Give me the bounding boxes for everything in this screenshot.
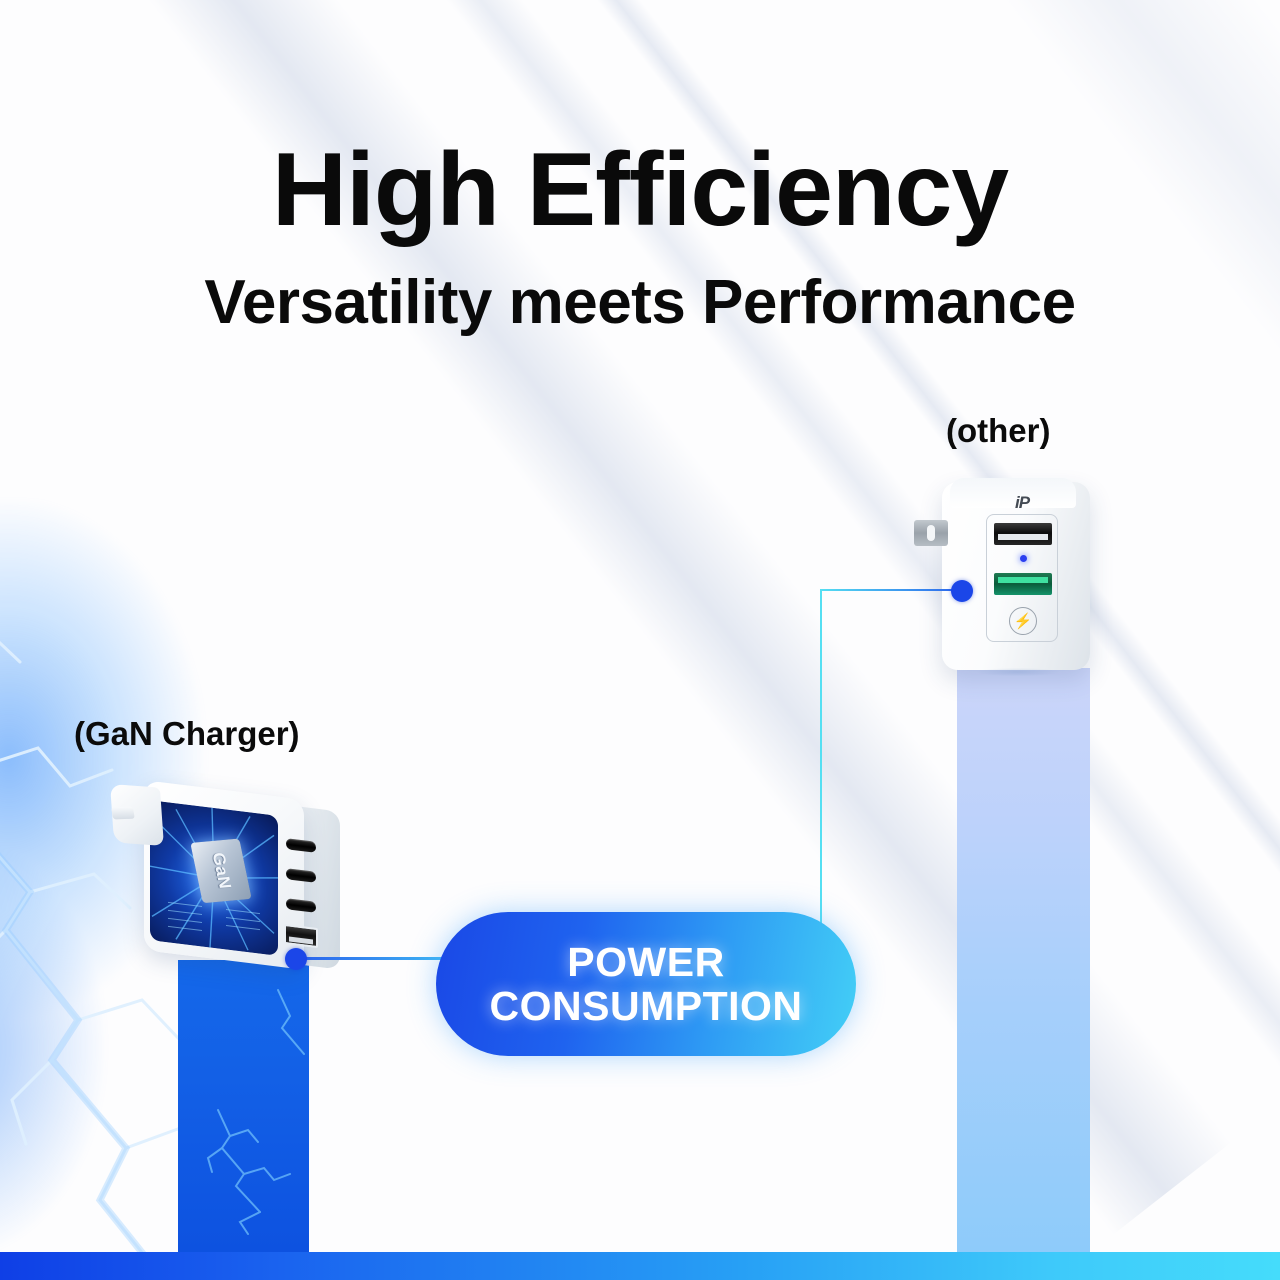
- connector-dot-other: [951, 580, 973, 602]
- page-title: High Efficiency: [0, 138, 1280, 242]
- gan-usb-a-port: [284, 924, 318, 948]
- quick-charge-badge-icon: ⚡: [1009, 607, 1037, 635]
- badge-line-1: POWER: [490, 940, 803, 984]
- gan-chip-label: GaN: [207, 852, 234, 890]
- gan-charger-plug-prong: [110, 784, 164, 846]
- bar-other-charger: [957, 668, 1090, 1252]
- other-charger-shadow: [958, 666, 1078, 678]
- quick-charge-bolt-glyph: ⚡: [1014, 614, 1033, 629]
- bar-gan-charger: [178, 960, 309, 1252]
- gan-charger-product-image: GaN: [104, 778, 346, 978]
- power-consumption-badge-text: POWER CONSUMPTION: [490, 940, 803, 1029]
- connector-line-other-horizontal: [820, 589, 962, 591]
- page-subtitle: Versatility meets Performance: [0, 272, 1280, 334]
- connector-line-other-vertical: [820, 589, 822, 943]
- other-charger-brand-logo: iP: [987, 493, 1057, 513]
- other-charger-product-image: iP ⚡: [898, 478, 1128, 678]
- other-charger-port-panel: iP ⚡: [986, 514, 1058, 642]
- infographic-canvas: High Efficiency Versatility meets Perfor…: [0, 0, 1280, 1280]
- other-charger-led-indicator: [1020, 555, 1027, 562]
- badge-line-2: CONSUMPTION: [490, 984, 803, 1028]
- label-other-charger: (other): [946, 412, 1050, 450]
- gan-charger-front-face: GaN: [150, 800, 278, 956]
- chart-baseline: [0, 1252, 1280, 1280]
- power-consumption-badge: POWER CONSUMPTION: [436, 912, 856, 1056]
- other-charger-plug-prong: [914, 520, 948, 546]
- other-usb-a-port-quickcharge: [994, 573, 1052, 595]
- bar-spark-overlay-icon: [178, 960, 309, 1252]
- connector-dot-gan: [285, 948, 307, 970]
- label-gan-charger: (GaN Charger): [74, 715, 300, 753]
- other-usb-a-port-standard: [994, 523, 1052, 545]
- connector-line-gan: [300, 957, 450, 960]
